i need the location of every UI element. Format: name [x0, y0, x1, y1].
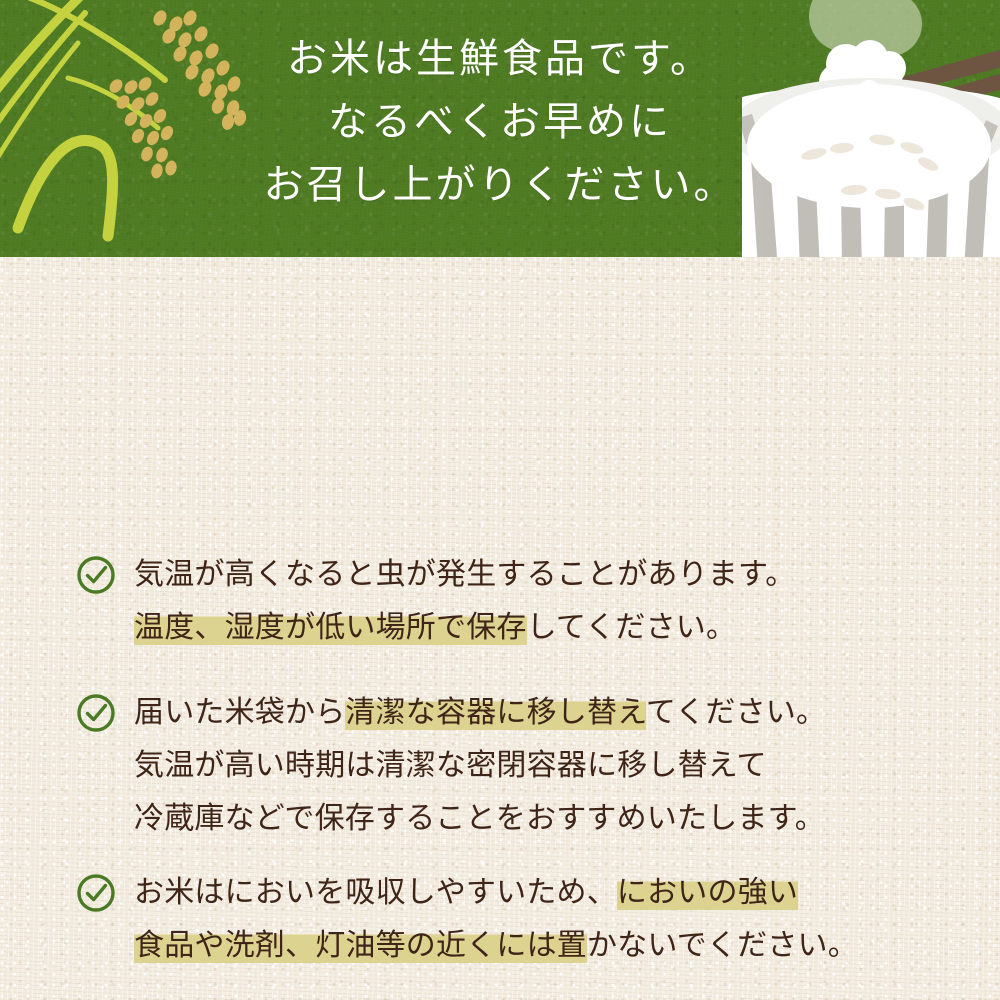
check-circle-icon [76, 873, 116, 913]
list-item-text: 届いた米袋から清潔な容器に移し替えてください。気温が高い時期は清潔な密閉容器に移… [134, 686, 826, 845]
list-item: お米はにおいを吸収しやすいため、においの強い食品や洗剤、灯油等の近くには置かない… [0, 866, 858, 972]
plain-text: 届いた米袋から [134, 695, 345, 730]
plain-text: 冷蔵庫などで保存することをおすすめいたします。 [134, 801, 825, 836]
title-line-3: お召し上がりください。 [0, 154, 1000, 217]
text-line: 気温が高い時期は清潔な密閉容器に移し替えて [134, 739, 826, 792]
text-line: 気温が高くなると虫が発生することがあります。 [134, 548, 795, 601]
check-circle-icon [76, 693, 116, 733]
highlighted-text: においの強い [617, 875, 798, 910]
plain-text: かないでください。 [587, 928, 858, 963]
header-banner: お米は生鮮食品です。 なるべくお早めに お召し上がりください。 [0, 0, 1000, 257]
list-item-text: お米はにおいを吸収しやすいため、においの強い食品や洗剤、灯油等の近くには置かない… [134, 866, 858, 972]
plain-text: お米はにおいを吸収しやすいため、 [134, 875, 617, 910]
page-title: お米は生鮮食品です。 なるべくお早めに お召し上がりください。 [0, 28, 1000, 217]
infographic-page: お米は生鮮食品です。 なるべくお早めに お召し上がりください。 気温が高くなると… [0, 0, 1000, 1000]
title-line-1: お米は生鮮食品です。 [0, 28, 1000, 91]
highlighted-text: 食品や洗剤、灯油等の近くには置 [134, 928, 587, 963]
plain-text: してください。 [527, 610, 737, 645]
plain-text: 気温が高くなると虫が発生することがあります。 [134, 557, 795, 592]
text-line: お米はにおいを吸収しやすいため、においの強い [134, 866, 858, 919]
text-line: 食品や洗剤、灯油等の近くには置かないでください。 [134, 919, 858, 972]
text-line: 冷蔵庫などで保存することをおすすめいたします。 [134, 792, 826, 845]
text-line: 届いた米袋から清潔な容器に移し替えてください。 [134, 686, 826, 739]
list-item: 気温が高くなると虫が発生することがあります。温度、湿度が低い場所で保存してくださ… [0, 548, 795, 654]
title-line-2: なるべくお早めに [0, 91, 1000, 154]
list-item: 届いた米袋から清潔な容器に移し替えてください。気温が高い時期は清潔な密閉容器に移… [0, 686, 826, 845]
check-circle-icon [76, 555, 116, 595]
list-item-text: 気温が高くなると虫が発生することがあります。温度、湿度が低い場所で保存してくださ… [134, 548, 795, 654]
highlighted-text: 清潔な容器に移し替え [345, 695, 646, 730]
plain-text: 気温が高い時期は清潔な密閉容器に移し替えて [134, 748, 767, 783]
plain-text: てください。 [646, 695, 826, 730]
text-line: 温度、湿度が低い場所で保存してください。 [134, 601, 795, 654]
highlighted-text: 温度、湿度が低い場所で保存 [134, 610, 527, 645]
notes-panel: 気温が高くなると虫が発生することがあります。温度、湿度が低い場所で保存してくださ… [0, 257, 1000, 1000]
